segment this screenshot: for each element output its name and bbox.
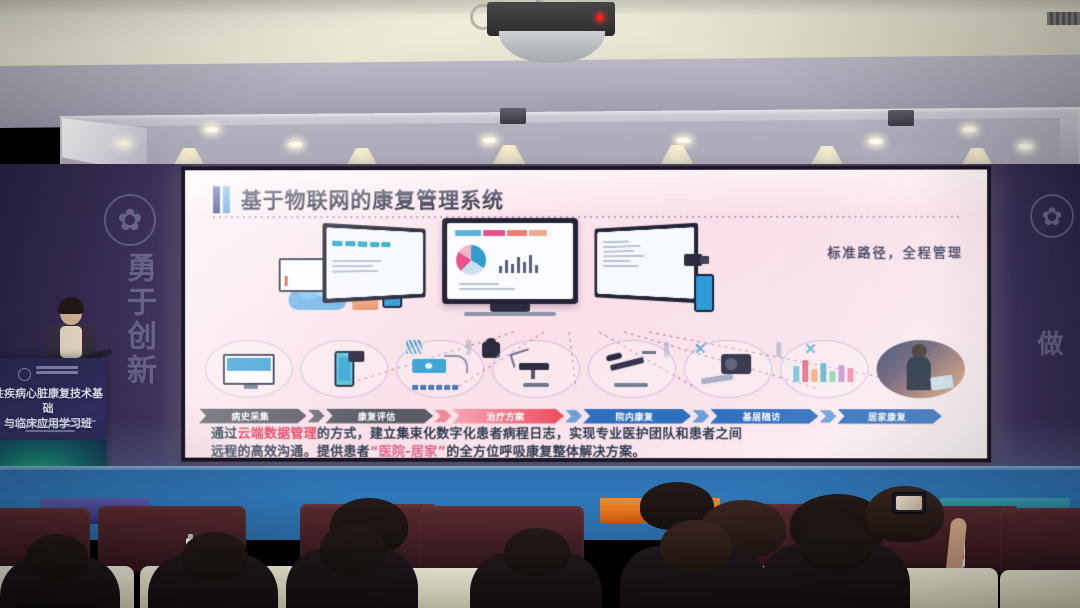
device-icon-row: [205, 340, 971, 402]
projector-power-led: [597, 14, 603, 21]
body-highlight-1: 云端数据管理: [237, 427, 316, 442]
chart-lines: [603, 240, 644, 267]
projector-vent: [1047, 12, 1080, 25]
flow-step-4[interactable]: 院内康复: [583, 408, 691, 423]
phone-camera-icon: [348, 351, 364, 362]
flow-chevron-3: [565, 409, 582, 422]
chart-labels: [332, 241, 390, 248]
ceiling-spotlight: [500, 108, 526, 124]
exercise-bike-icon: [606, 351, 658, 387]
body-line-2: 远程的高效沟通。提供患者“医院-居家”的全方位呼吸康复整体解决方案。: [211, 444, 963, 459]
rehab-equipment-icon: [701, 352, 755, 386]
bike-seat: [606, 352, 623, 362]
presentation-slide: 基于物联网的康复管理系统 标准路径，全程管理: [185, 170, 987, 459]
care-pathway-flow: 病史采集 康复评估 治疗方案 院内康复 基层随访 居家康复: [199, 408, 975, 425]
flow-chevron-5: [819, 410, 836, 423]
bike-base: [614, 383, 648, 387]
monitor-stand: [490, 304, 530, 312]
audience-member: [320, 524, 386, 574]
mobile-phone-icon: [334, 351, 354, 387]
monitor-base: [464, 312, 556, 316]
ceiling-downlight: [288, 141, 303, 148]
chair-post: [531, 370, 535, 379]
flow-step-6[interactable]: 居家康复: [837, 409, 941, 424]
ceiling-downlight: [116, 140, 131, 147]
dashboard-bar-chart: [455, 230, 547, 236]
dashboard-text-lines: [459, 283, 515, 290]
wall-emblem-icon: ✿: [1030, 194, 1074, 238]
dashboard-pie-chart: [456, 245, 486, 275]
ceiling-downlight: [676, 137, 691, 144]
wall-slogan-left: 勇于创新: [116, 252, 160, 388]
icon-bubble-phone[interactable]: [301, 340, 389, 398]
auditorium-seat: [1000, 508, 1080, 572]
camera-icon: [684, 254, 702, 266]
podium-org-lines: [36, 366, 78, 374]
ceiling-downlight: [962, 126, 977, 133]
recording-phone: [892, 492, 926, 514]
icon-bubble-monitor[interactable]: [205, 340, 293, 398]
icon-bubble-device[interactable]: [396, 340, 484, 398]
chart-lines: [332, 260, 381, 273]
slide-side-note: 标准路径，全程管理: [827, 242, 963, 261]
slide-title-row: 基于物联网的康复管理系统: [213, 184, 504, 214]
podium-title-line1: 性疾病心脏康复技术基础: [0, 387, 103, 415]
auditorium-seat: [1000, 570, 1080, 608]
chair-seat: [519, 363, 549, 370]
body-highlight-2: “医院-居家”: [370, 445, 446, 459]
bike-handle: [642, 351, 656, 354]
tablet-in-photo: [930, 375, 954, 391]
dashboard-monitor-center: [442, 218, 578, 304]
monitoring-device-icon: [412, 355, 468, 383]
flow-step-1[interactable]: 病史采集: [199, 408, 306, 423]
ceiling-downlight: [868, 138, 883, 145]
dashboard-mini-bars: [499, 249, 538, 273]
flow-step-3[interactable]: 治疗方案: [452, 408, 564, 423]
mobile-phone-icon: [694, 274, 714, 312]
monitor-icon: [223, 353, 275, 384]
podium-subtitle-lines: [0, 420, 102, 432]
equipment-rail: [701, 374, 734, 385]
icon-bubble-medication[interactable]: [780, 340, 868, 398]
iot-dashboard-illustration: [295, 218, 725, 338]
audience-member: [182, 532, 248, 580]
icon-bubble-equipment[interactable]: [684, 340, 772, 398]
presenter-hair: [58, 297, 84, 314]
flow-chevron-4: [692, 410, 709, 423]
body-text-b: 的方式，建立集束化数字化患者病程日志，实现专业医护团队和患者之间: [317, 427, 742, 442]
icon-bubble-chair[interactable]: [492, 340, 580, 398]
audience-member: [800, 518, 872, 570]
screenshot-root: ✿ 勇于创新 ✿ 做 基于物联网的康复管理系统 标准路径，全程管理: [0, 0, 1080, 608]
audience-member: [26, 534, 88, 580]
title-accent-bars: [213, 186, 230, 213]
ceiling-downlight: [204, 126, 219, 133]
rehab-chair-icon: [511, 351, 561, 387]
ceiling-downlight: [482, 137, 497, 144]
flow-step-5[interactable]: 基层随访: [710, 409, 818, 424]
body-text-d: 的全方位呼吸康复整体解决方案。: [446, 445, 645, 459]
ceiling-spotlight: [888, 110, 914, 126]
device-body: [412, 359, 446, 373]
dashboard-monitor-left: [322, 223, 425, 304]
projection-screen-frame: 基于物联网的康复管理系统 标准路径，全程管理: [181, 166, 991, 463]
patient-photo[interactable]: [877, 340, 965, 398]
body-text-a: 通过: [211, 427, 237, 442]
presenter-shirt: [60, 326, 82, 358]
flow-chevron-1: [308, 409, 325, 422]
dashboard-monitor-right: [595, 223, 699, 304]
wall-emblem-icon: ✿: [104, 194, 156, 246]
chair-wheels: [523, 383, 549, 387]
patient-figure: [907, 356, 931, 390]
flow-chevron-2: [434, 409, 451, 422]
podium-logo-icon: [18, 368, 31, 381]
flow-step-2[interactable]: 康复评估: [325, 408, 433, 423]
body-line-1: 通过云端数据管理的方式，建立集束化数字化患者病程日志，实现专业医护团队和患者之间: [211, 426, 963, 445]
equipment-body: [721, 354, 751, 374]
device-arm: [444, 355, 468, 373]
body-text-c: 远程的高效沟通。提供患者: [211, 445, 370, 459]
slide-body-text: 通过云端数据管理的方式，建立集束化数字化患者病程日志，实现专业医护团队和患者之间…: [211, 426, 963, 459]
audience-member: [660, 520, 732, 572]
device-label-glyphs: [412, 385, 458, 390]
wall-slogan-right: 做: [1030, 330, 1067, 360]
medication-items-icon: [793, 356, 855, 382]
audience-member: [504, 528, 570, 576]
ceiling-downlight: [1018, 143, 1033, 150]
page-title: 基于物联网的康复管理系统: [241, 184, 504, 214]
icon-bubble-bike[interactable]: [588, 340, 676, 398]
